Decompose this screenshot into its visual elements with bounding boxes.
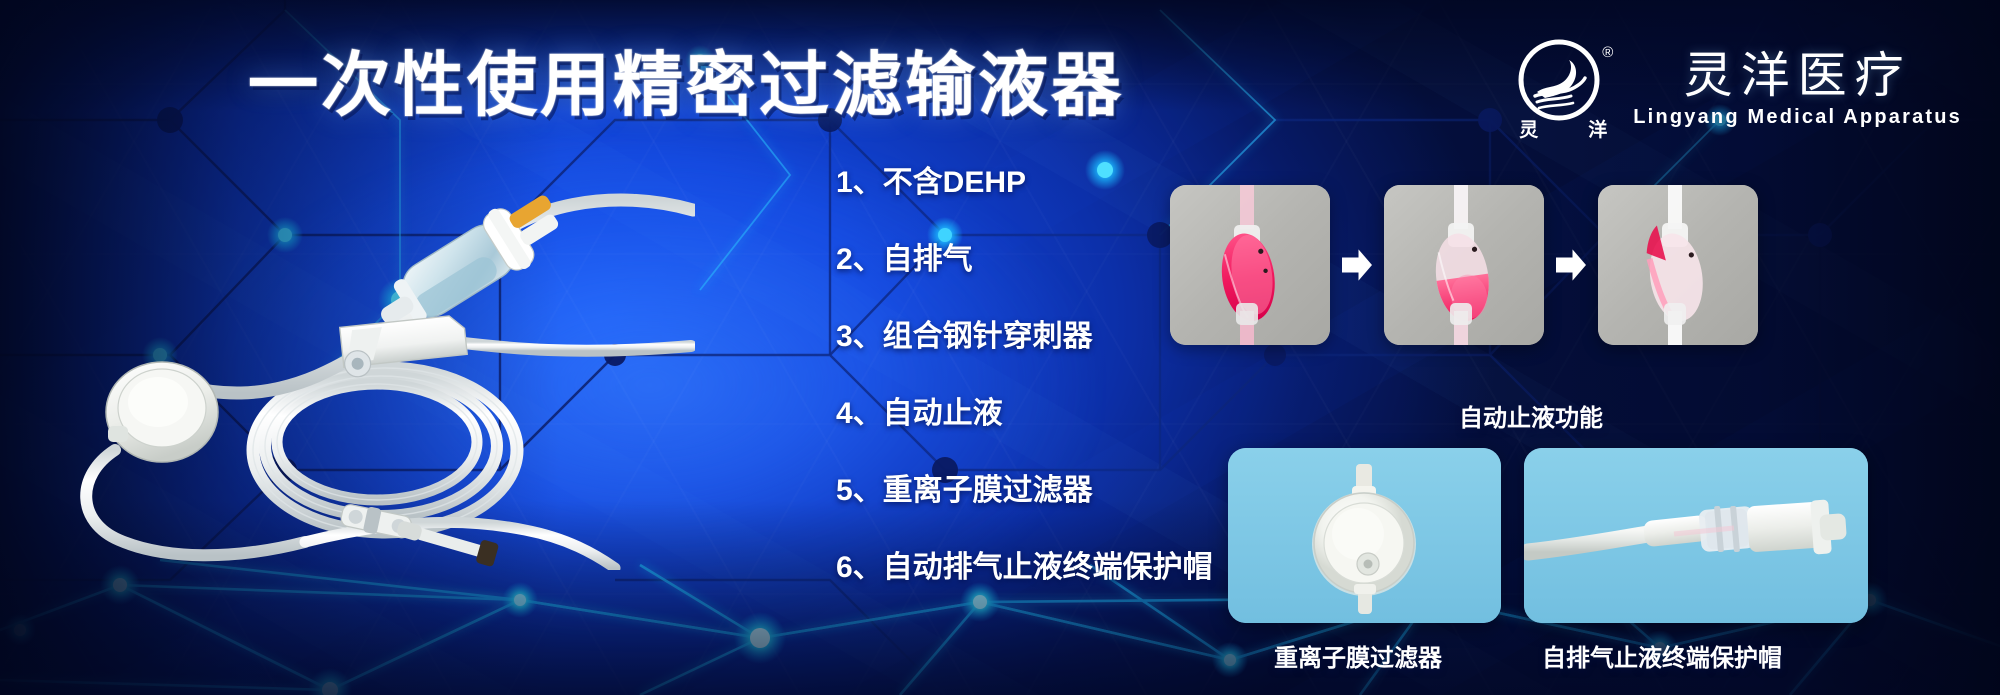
card-terminal-protective-cap <box>1524 448 1868 623</box>
card-caption-terminal-cap: 自排气止液终端保护帽 <box>1542 638 1782 673</box>
logo-mark-char-right: 洋 <box>1588 115 1607 142</box>
auto-stop-sequence <box>1170 185 1758 345</box>
feature-list: 1、不含DEHP 2、自排气 3、组合钢针穿刺器 4、自动止液 5、重离子膜过滤… <box>836 168 1216 583</box>
brand-name-cn: 灵洋医疗 <box>1684 51 1912 102</box>
logo-mark: ® 灵 洋 <box>1515 38 1611 142</box>
feature-item-2: 2、自排气 <box>836 245 1216 275</box>
brand-logo: ® 灵 洋 灵洋医疗 Lingyang Medical Apparatus <box>1515 38 1962 142</box>
sequence-arrow-1 <box>1330 248 1384 282</box>
feature-item-4: 4、自动止液 <box>836 399 1216 429</box>
terminal-protective-cap-photo <box>1524 448 1868 623</box>
logo-mark-char-left: 灵 <box>1519 115 1538 142</box>
feature-item-3: 3、组合钢针穿刺器 <box>836 322 1216 352</box>
right-arrow-icon <box>1342 248 1372 282</box>
brand-text: 灵洋医疗 Lingyang Medical Apparatus <box>1633 51 1962 129</box>
feature-item-5: 5、重离子膜过滤器 <box>836 476 1216 506</box>
auto-stop-step-2 <box>1384 185 1544 345</box>
wave-bird-circle-logo-icon <box>1515 38 1611 122</box>
right-arrow-icon <box>1556 248 1586 282</box>
heavy-ion-membrane-filter-photo <box>1228 448 1501 623</box>
auto-stop-caption: 自动止液功能 <box>1459 398 1603 433</box>
feature-item-1: 1、不含DEHP <box>836 168 1216 198</box>
auto-stop-step-3 <box>1598 185 1758 345</box>
brand-name-en: Lingyang Medical Apparatus <box>1633 106 1962 129</box>
product-banner: 一次性使用精密过滤输液器 ® 灵 洋 灵洋医疗 Lingyang Medical… <box>0 0 2000 695</box>
feature-item-6: 6、自动排气止液终端保护帽 <box>836 553 1216 583</box>
registered-symbol: ® <box>1602 44 1613 61</box>
page-title: 一次性使用精密过滤输液器 <box>248 46 1124 124</box>
sequence-arrow-2 <box>1544 248 1598 282</box>
auto-stop-step-1 <box>1170 185 1330 345</box>
card-heavy-ion-membrane-filter <box>1228 448 1501 623</box>
card-caption-filter: 重离子膜过滤器 <box>1274 638 1442 673</box>
product-photo <box>55 150 695 570</box>
